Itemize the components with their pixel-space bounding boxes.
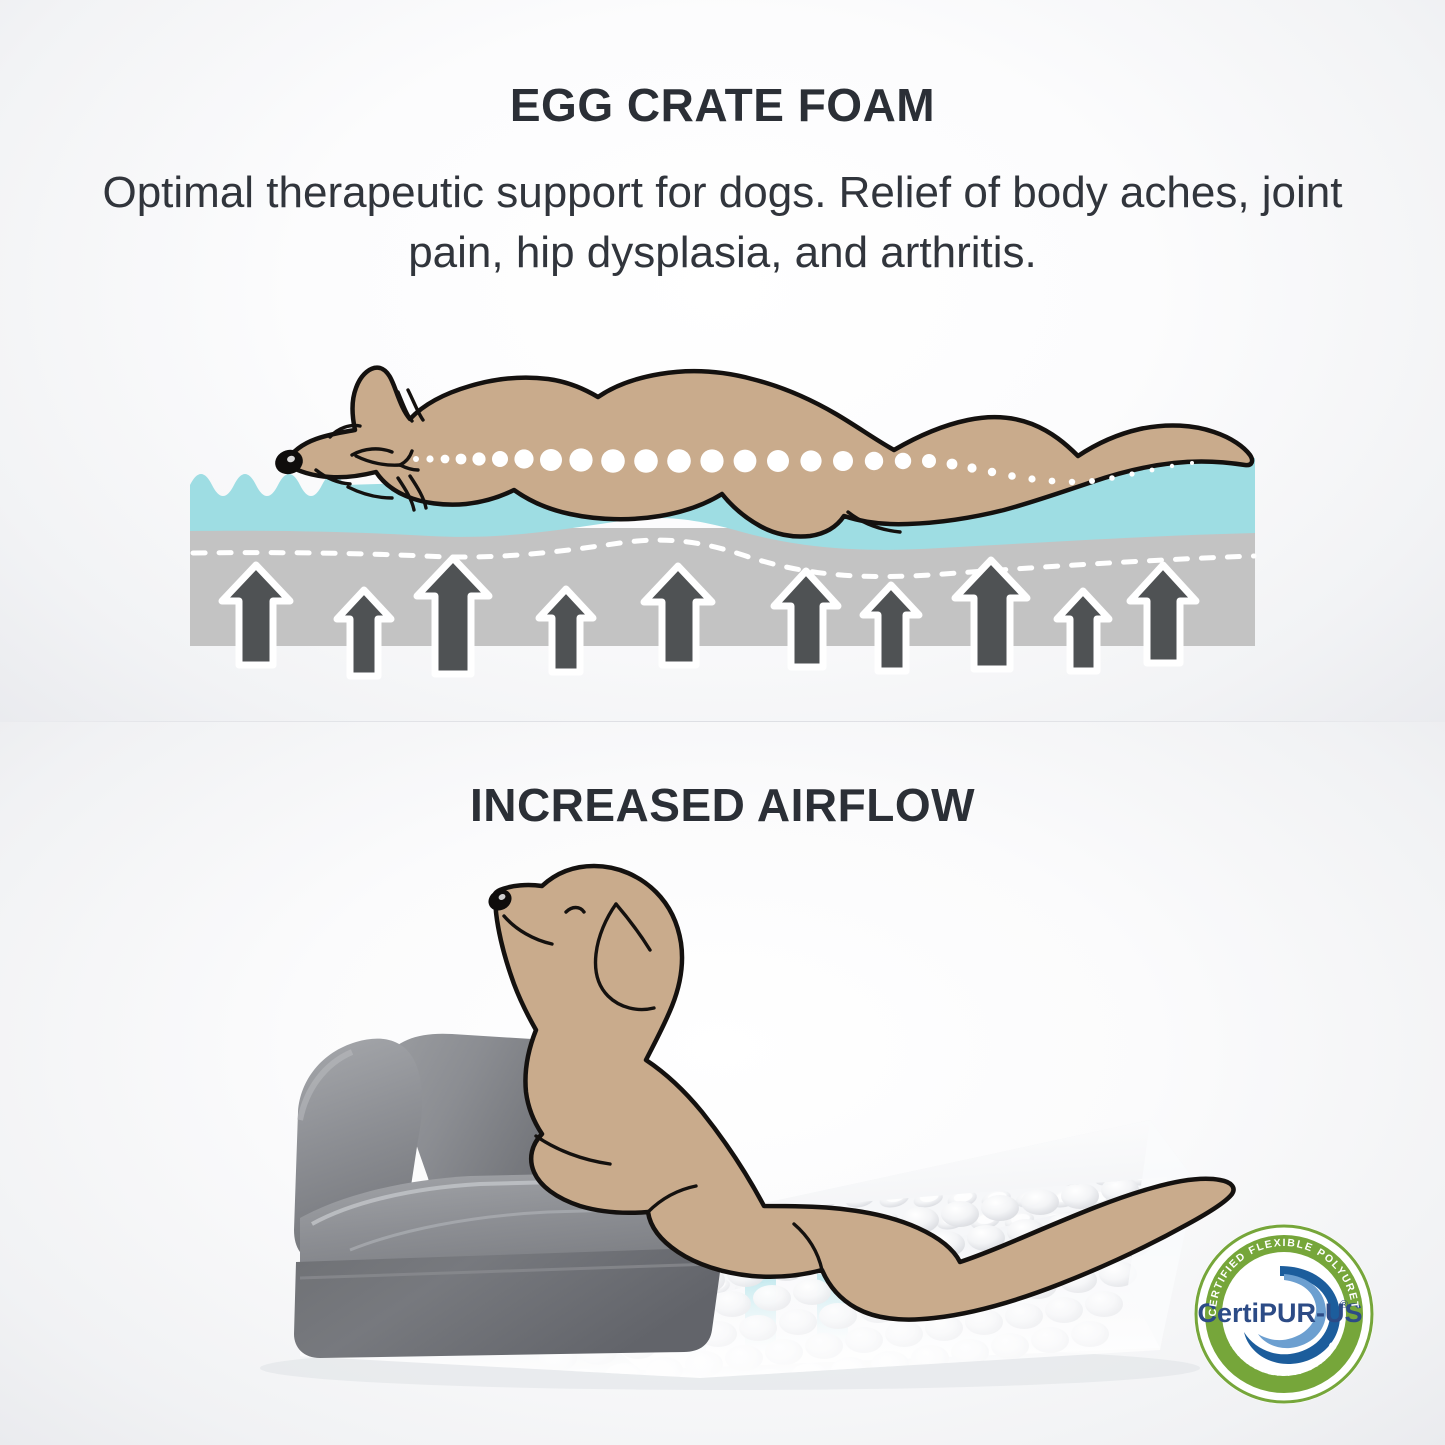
page-title-increased-airflow: INCREASED AIRFLOW	[0, 778, 1445, 832]
certipur-us-badge: CertiPUR-US ® CONTAINS CERTIFIED FLEXIBL…	[1192, 1222, 1376, 1406]
page-title-egg-crate-foam: EGG CRATE FOAM	[0, 78, 1445, 132]
registered-mark: ®	[1340, 1299, 1348, 1311]
infographic-page: EGG CRATE FOAM Optimal therapeutic suppo…	[0, 0, 1445, 1445]
subtitle-egg-crate-foam: Optimal therapeutic support for dogs. Re…	[73, 163, 1373, 283]
certipur-wordmark: CertiPUR-US	[1197, 1298, 1362, 1328]
